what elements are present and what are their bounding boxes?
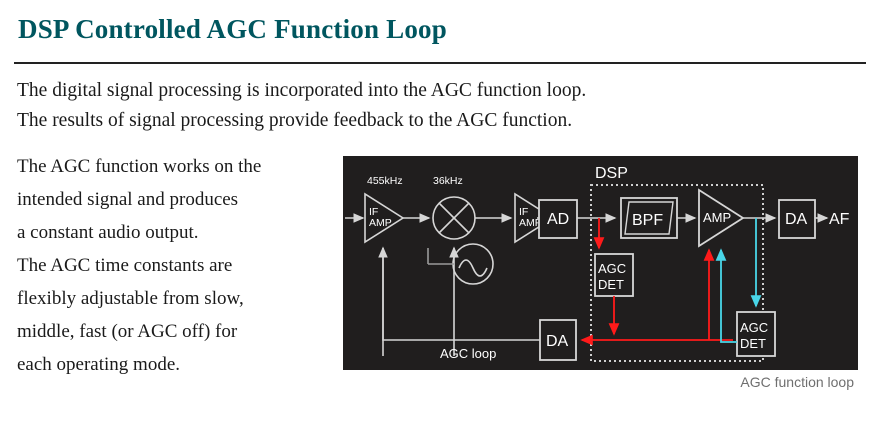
intro-line-1: The digital signal processing is incorpo… [17, 76, 867, 106]
agc-det-1-label-line2: DET [598, 277, 624, 292]
agc-det-2-label-line2: DET [740, 336, 766, 351]
page-root: DSP Controlled AGC Function Loop The dig… [0, 0, 880, 438]
dsp-label: DSP [595, 165, 628, 182]
left-line-6: middle, fast (or AGC off) for [17, 315, 347, 348]
if-amp-1-label-line2: AMP [369, 217, 392, 229]
left-line-5: flexibly adjustable from slow, [17, 282, 347, 315]
agc-loop-label: AGC loop [440, 346, 496, 361]
agc-block-diagram: DSP IF AMP 455kHz 36kHz IF AMP [343, 156, 858, 370]
left-line-7: each operating mode. [17, 348, 347, 381]
left-column-text: The AGC function works on the intended s… [17, 150, 347, 381]
agc-det-1-label-line1: AGC [598, 261, 626, 276]
left-line-1: The AGC function works on the [17, 150, 347, 183]
dsp-amp-label: AMP [703, 210, 731, 225]
bpf-block: BPF [621, 198, 677, 238]
agc-det-2-block: AGC DET [737, 312, 775, 356]
title-divider [14, 62, 866, 64]
ad-block-label: AD [547, 211, 569, 228]
freq-label-455khz: 455kHz [367, 175, 403, 187]
agc-det-1-block: AGC DET [595, 254, 633, 296]
diagram-svg: DSP IF AMP 455kHz 36kHz IF AMP [343, 156, 858, 370]
agc-det-2-label-line1: AGC [740, 320, 768, 335]
agc-det-2-output-path [721, 250, 737, 342]
left-line-3: a constant audio output. [17, 216, 347, 249]
freq-label-36khz: 36kHz [433, 175, 463, 187]
bpf-block-label: BPF [632, 212, 663, 229]
local-oscillator-block [453, 244, 493, 284]
page-title: DSP Controlled AGC Function Loop [18, 14, 447, 45]
agc-loop-return-path [383, 248, 540, 340]
left-line-4: The AGC time constants are [17, 249, 347, 282]
ad-block: AD [539, 200, 577, 238]
intro-line-2: The results of signal processing provide… [17, 106, 867, 136]
left-line-2: intended signal and produces [17, 183, 347, 216]
da-output-label: DA [785, 211, 808, 228]
af-output-label: AF [829, 211, 850, 228]
da-loop-label: DA [546, 333, 569, 350]
da-output-block: DA [779, 200, 815, 238]
figure-caption: AGC function loop [343, 374, 858, 390]
intro-paragraph: The digital signal processing is incorpo… [17, 76, 867, 136]
da-loop-block: DA [540, 320, 576, 360]
